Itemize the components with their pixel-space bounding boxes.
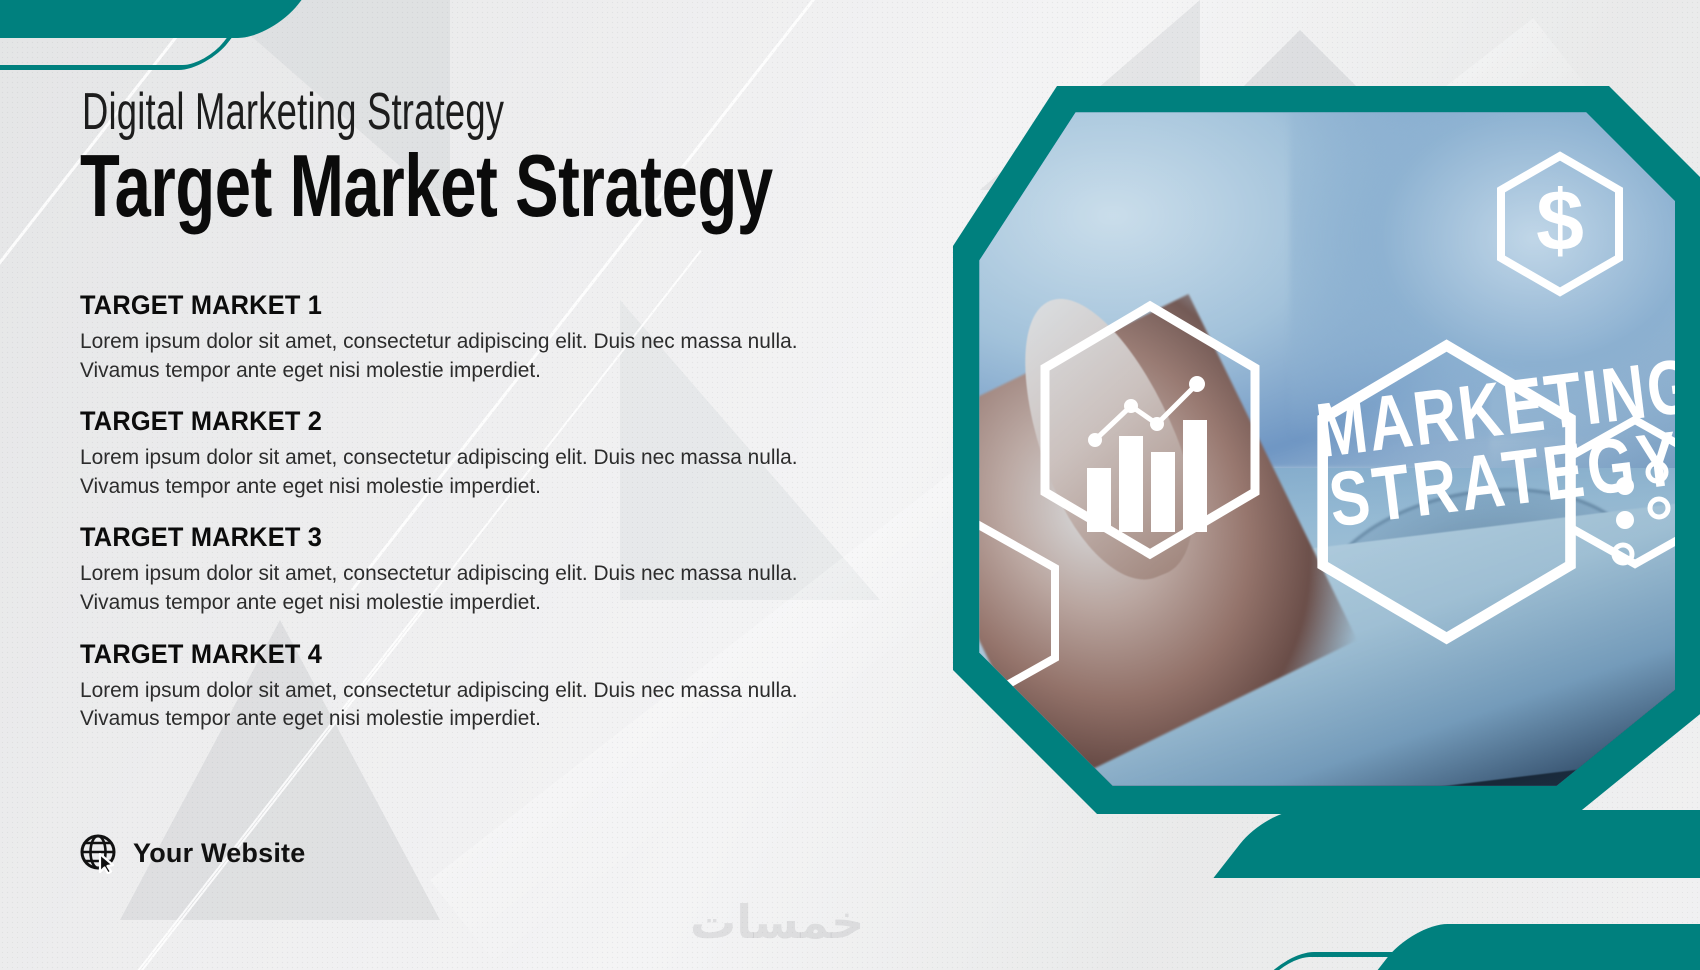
target-market-body: Lorem ipsum dolor sit amet, consectetur … [80, 559, 856, 616]
target-market-body: Lorem ipsum dolor sit amet, consectetur … [80, 676, 856, 733]
target-market-heading: TARGET MARKET 1 [80, 290, 832, 321]
hero-photo-content: $ MARKETING STRATEGY [935, 68, 1675, 808]
hero-overlay-graphics: $ MARKETING STRATEGY [935, 68, 1675, 808]
target-market-heading: TARGET MARKET 2 [80, 406, 832, 437]
bar-chart-trend-icon [1087, 376, 1207, 532]
target-market-heading: TARGET MARKET 3 [80, 522, 832, 553]
teal-accent-top-outline [0, 36, 233, 70]
page-title: Target Market Strategy [80, 142, 773, 230]
target-market-body: Lorem ipsum dolor sit amet, consectetur … [80, 327, 856, 384]
chart-hexagon-outline [1045, 306, 1255, 554]
target-market-item: TARGET MARKET 2 Lorem ipsum dolor sit am… [80, 406, 880, 500]
watermark: خمسات [690, 895, 864, 949]
target-market-item: TARGET MARKET 3 Lorem ipsum dolor sit am… [80, 522, 880, 616]
target-market-body: Lorem ipsum dolor sit amet, consectetur … [80, 443, 856, 500]
website-footer[interactable]: Your Website [78, 832, 305, 874]
target-market-item: TARGET MARKET 1 Lorem ipsum dolor sit am… [80, 290, 880, 384]
target-market-item: TARGET MARKET 4 Lorem ipsum dolor sit am… [80, 639, 880, 733]
dollar-sign-icon: $ [1536, 173, 1584, 269]
website-label: Your Website [133, 838, 305, 869]
eyebrow-title: Digital Marketing Strategy [82, 82, 504, 142]
target-market-heading: TARGET MARKET 4 [80, 639, 832, 670]
globe-cursor-icon [78, 832, 120, 874]
hero-image-block: $ MARKETING STRATEGY [905, 38, 1700, 838]
slide-canvas: $ MARKETING STRATEGY [0, 0, 1700, 970]
target-market-list: TARGET MARKET 1 Lorem ipsum dolor sit am… [80, 290, 880, 733]
hero-photo: $ MARKETING STRATEGY [935, 68, 1675, 808]
